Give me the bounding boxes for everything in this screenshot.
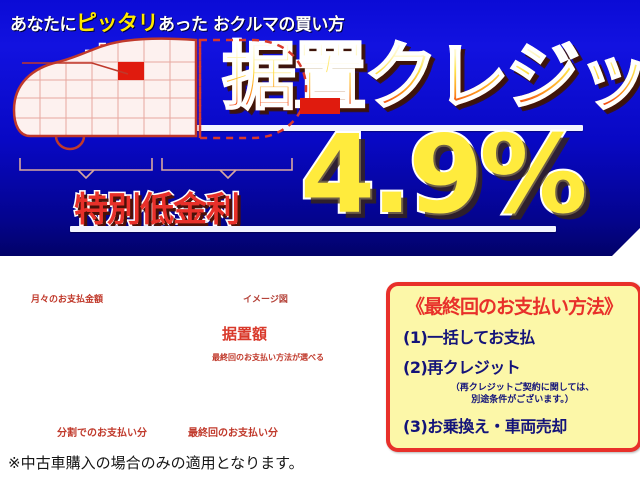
label-monthly-payment: 月々のお支払金額 bbox=[31, 292, 103, 305]
interest-rate-value: 4.9% bbox=[300, 120, 584, 232]
monthly-payment-cell bbox=[118, 62, 144, 80]
label-choose-method: 最終回のお支払い方法が選べる bbox=[212, 352, 292, 363]
bracket-left-shape bbox=[20, 158, 152, 178]
recredit-note-line-2: 別途条件がございます。） bbox=[420, 394, 625, 406]
advertisement-banner: あなたにピッタリあった おクルマの買い方 中古車 限定 据置クレジット 据置クレ… bbox=[0, 0, 640, 480]
car-wheel bbox=[56, 136, 84, 149]
panel-heading: 《最終回のお支払い方法》 bbox=[390, 292, 638, 319]
recredit-note: （再クレジットご契約に関しては、 別途条件がございます。） bbox=[420, 382, 625, 406]
label-installment-portion: 分割でのお支払い分 bbox=[57, 424, 147, 439]
payment-option-2: (2)再クレジット bbox=[403, 354, 520, 378]
payment-option-3: (3)お乗換え・車両売却 bbox=[403, 413, 567, 437]
divider-bottom bbox=[70, 226, 556, 232]
payment-structure-diagram bbox=[0, 18, 340, 193]
flow-arrow-icon bbox=[300, 90, 340, 122]
bracket-right-shape bbox=[162, 158, 292, 178]
footnote-text: ※中古車購入の場合のみの適用となります。 bbox=[8, 452, 304, 473]
recredit-note-line-1: （再クレジットご契約に関しては、 bbox=[420, 382, 625, 394]
label-deferred-amount: 据置額 bbox=[222, 323, 267, 344]
diagram-svg bbox=[0, 18, 340, 193]
deferred-amount-balloon bbox=[200, 40, 306, 138]
payment-option-1: (1)一括してお支払 bbox=[403, 324, 535, 348]
final-payment-methods-panel: 《最終回のお支払い方法》 (1)一括してお支払 (2)再クレジット （再クレジッ… bbox=[386, 282, 640, 452]
label-image-diagram: イメージ図 bbox=[243, 292, 288, 305]
label-final-portion: 最終回のお支払い分 bbox=[188, 424, 278, 439]
diagram-grid bbox=[10, 36, 200, 140]
